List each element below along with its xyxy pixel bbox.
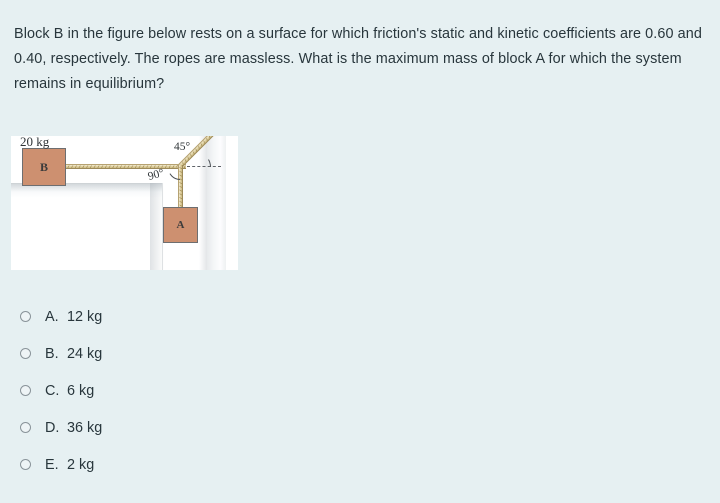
option-row-c[interactable]: C. 6 kg bbox=[20, 372, 420, 409]
block-a: A bbox=[163, 207, 198, 243]
question-text: Block B in the figure below rests on a s… bbox=[14, 22, 704, 97]
radio-option-c[interactable] bbox=[20, 385, 31, 396]
angle-label-90: 90° bbox=[147, 167, 166, 183]
radio-option-e[interactable] bbox=[20, 459, 31, 470]
answer-options: A. 12 kg B. 24 kg C. 6 kg D. 36 kg E. 2 … bbox=[20, 298, 420, 483]
option-letter-d: D. bbox=[45, 420, 67, 436]
option-letter-e: E. bbox=[45, 457, 67, 473]
option-text-a: 12 kg bbox=[67, 309, 102, 325]
option-letter-c: C. bbox=[45, 383, 67, 399]
physics-figure: B A 20 kg 45° 90° bbox=[11, 136, 238, 270]
radio-option-a[interactable] bbox=[20, 311, 31, 322]
block-b: B bbox=[22, 148, 66, 186]
option-row-a[interactable]: A. 12 kg bbox=[20, 298, 420, 335]
support-surface bbox=[11, 183, 163, 270]
surface-edge-shadow bbox=[150, 183, 164, 270]
option-row-e[interactable]: E. 2 kg bbox=[20, 446, 420, 483]
option-row-b[interactable]: B. 24 kg bbox=[20, 335, 420, 372]
option-text-b: 24 kg bbox=[67, 346, 102, 362]
radio-option-d[interactable] bbox=[20, 422, 31, 433]
angle-label-45: 45° bbox=[174, 141, 190, 153]
option-row-d[interactable]: D. 36 kg bbox=[20, 409, 420, 446]
vertical-wall bbox=[207, 136, 226, 270]
option-text-c: 6 kg bbox=[67, 383, 94, 399]
rope-horizontal bbox=[65, 164, 186, 169]
option-text-e: 2 kg bbox=[67, 457, 94, 473]
option-letter-b: B. bbox=[45, 346, 67, 362]
option-letter-a: A. bbox=[45, 309, 67, 325]
mass-label-block-b: 20 kg bbox=[20, 136, 49, 150]
option-text-d: 36 kg bbox=[67, 420, 102, 436]
radio-option-b[interactable] bbox=[20, 348, 31, 359]
